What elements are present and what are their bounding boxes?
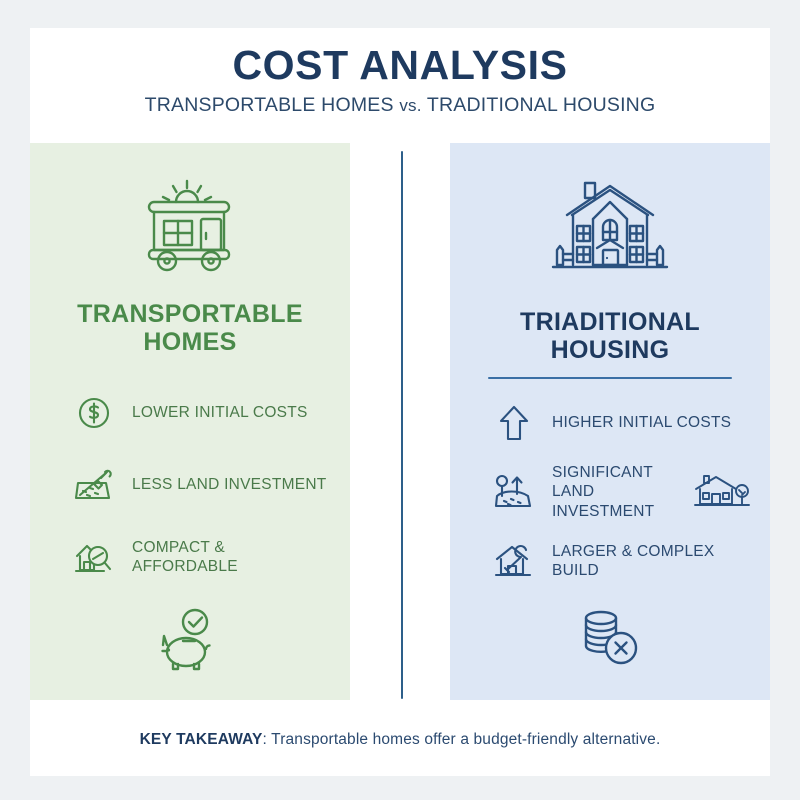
- feature-item: LOWER INITIAL COSTS: [72, 391, 330, 435]
- page-subtitle: TRANSPORTABLE HOMES vs. TRADITIONAL HOUS…: [30, 94, 770, 117]
- feature-label: HIGHER INITIAL COSTS: [552, 413, 731, 432]
- mobile-home-with-sun-icon: [131, 169, 249, 277]
- feature-label: LESS LAND INVESTMENT: [132, 475, 327, 494]
- page-title: COST ANALYSIS: [30, 44, 770, 87]
- up-arrow-icon: [492, 401, 536, 445]
- comparison-columns: TRANSPORTABLE HOMES LOWER INITIAL COSTS: [30, 143, 770, 703]
- two-story-house-icon: [549, 169, 671, 285]
- land-no-dig-icon: [72, 463, 116, 507]
- piggy-bank-check-icon: [153, 607, 227, 679]
- subtitle-right-term: TRADITIONAL HOUSING: [427, 94, 655, 116]
- panel-title-transportable: TRANSPORTABLE HOMES: [50, 301, 330, 356]
- feature-label: SIGNIFICANT LAND INVESTMENT: [552, 463, 672, 521]
- feature-item: COMPACT & AFFORDABLE: [72, 535, 330, 579]
- panel-transportable-homes: TRANSPORTABLE HOMES LOWER INITIAL COSTS: [30, 143, 350, 700]
- subtitle-left-term: TRANSPORTABLE HOMES: [145, 94, 394, 116]
- header: COST ANALYSIS TRANSPORTABLE HOMES vs. TR…: [30, 28, 770, 117]
- panel-rule-blue: [488, 377, 732, 379]
- feature-item: LESS LAND INVESTMENT: [72, 463, 330, 507]
- house-wrench-icon: [492, 539, 536, 583]
- feature-label: LARGER & COMPLEX BUILD: [552, 542, 750, 581]
- dollar-circle-icon: [72, 391, 116, 435]
- land-growth-icon: [492, 470, 536, 514]
- panel-title-traditional: TRIADITIONAL HOUSING: [470, 309, 750, 364]
- infographic-card: COST ANALYSIS TRANSPORTABLE HOMES vs. TR…: [30, 28, 770, 776]
- key-takeaway-label: KEY TAKEAWAY: [140, 731, 263, 748]
- key-takeaway: KEY TAKEAWAY: Transportable homes offer …: [140, 731, 661, 749]
- feature-item: LARGER & COMPLEX BUILD: [492, 539, 750, 583]
- footer: KEY TAKEAWAY: Transportable homes offer …: [30, 703, 770, 776]
- column-divider: [401, 151, 403, 699]
- feature-list-traditional: HIGHER INITIAL COSTS: [470, 401, 750, 601]
- feature-item: SIGNIFICANT LAND INVESTMENT: [492, 463, 750, 521]
- feature-list-transportable: LOWER INITIAL COSTS: [50, 391, 330, 607]
- feature-label: LOWER INITIAL COSTS: [132, 403, 308, 422]
- coin-stack-x-icon: [577, 606, 643, 670]
- panel-traditional-housing: TRIADITIONAL HOUSING HIGHER INITIAL COST…: [450, 143, 770, 700]
- subtitle-vs: vs.: [399, 96, 421, 115]
- key-takeaway-text: : Transportable homes offer a budget-fri…: [263, 731, 661, 748]
- feature-label: COMPACT & AFFORDABLE: [132, 538, 330, 577]
- house-with-tree-icon: [694, 472, 750, 512]
- house-magnifier-icon: [72, 535, 116, 579]
- feature-item: HIGHER INITIAL COSTS: [492, 401, 750, 445]
